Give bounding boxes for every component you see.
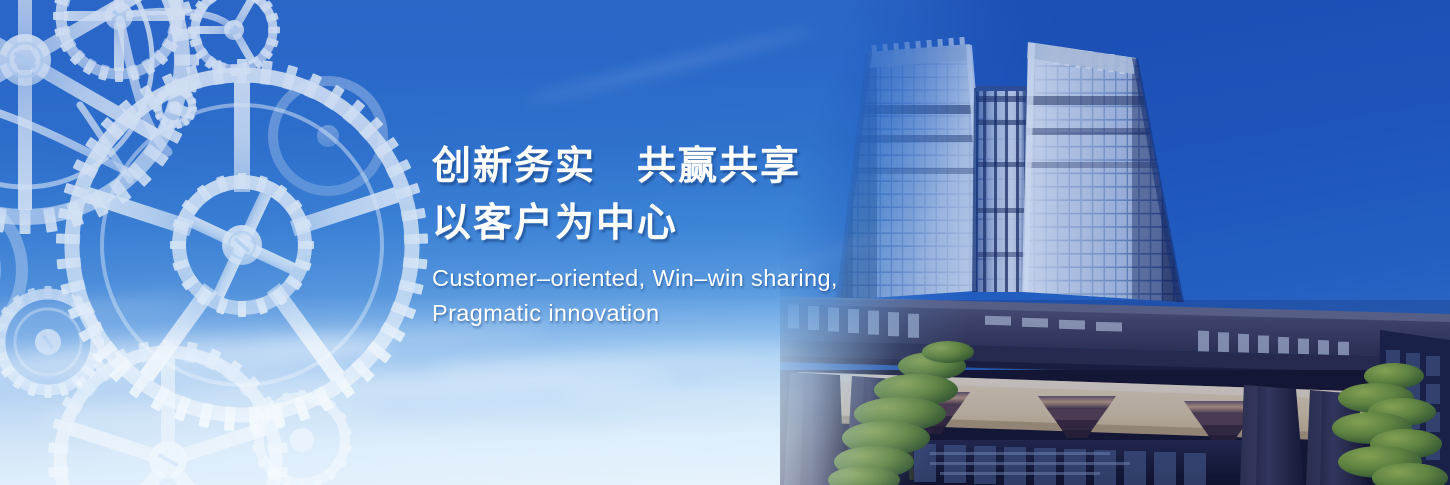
banner-copy: 创新务实 共赢共享 以客户为中心 Customer–oriented, Win–… (432, 138, 992, 331)
subtitle-line-1: Customer–oriented, Win–win sharing, (432, 261, 992, 296)
headline-line-1: 创新务实 共赢共享 (432, 138, 992, 195)
headline-line-2: 以客户为中心 (432, 195, 992, 252)
subtitle-line-2: Pragmatic innovation (432, 296, 992, 331)
hero-banner: 创新务实 共赢共享 以客户为中心 Customer–oriented, Win–… (0, 0, 1450, 485)
